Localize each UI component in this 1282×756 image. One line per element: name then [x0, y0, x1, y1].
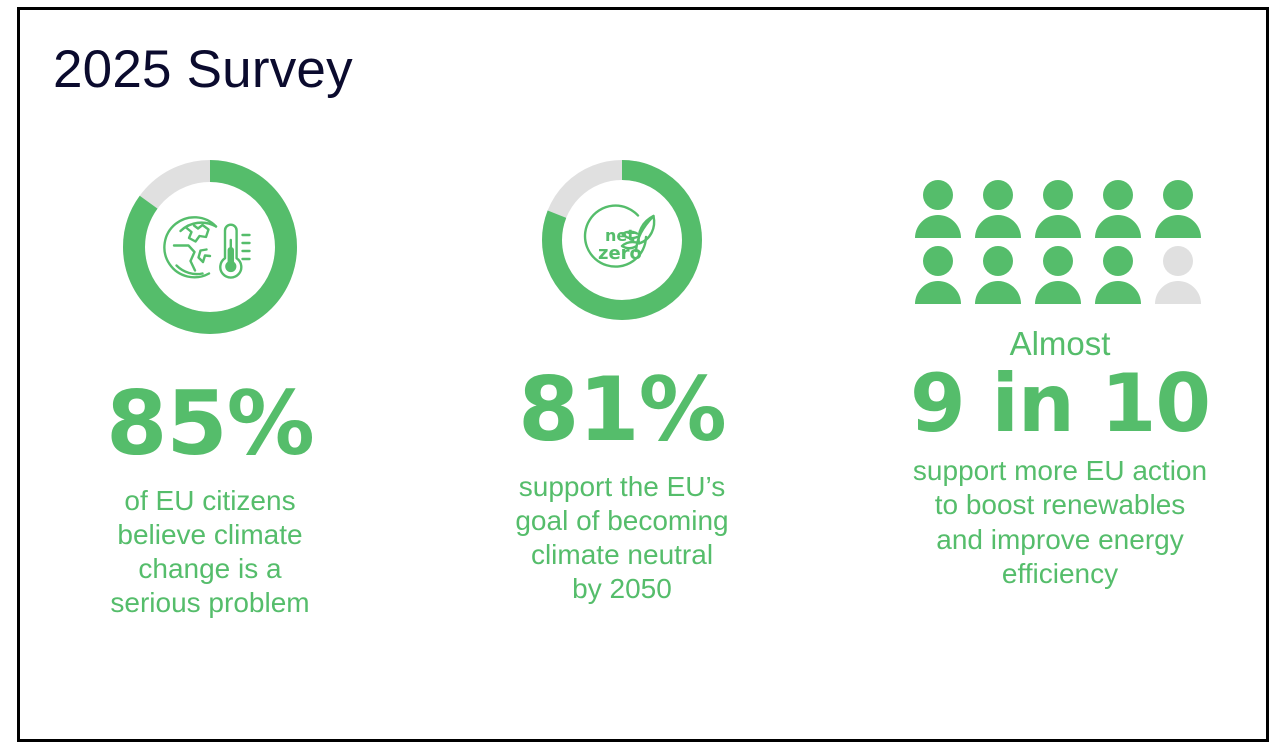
stat-column-climate-change-concern: 85% of EU citizens believe climate chang… — [45, 160, 375, 621]
people-pictogram — [910, 178, 1210, 308]
person-icon — [910, 244, 970, 308]
infographic-root: 2025 Survey — [0, 0, 1282, 756]
person-icon — [910, 178, 970, 242]
stat-value-climate-neutral-2050: 81% — [457, 366, 787, 454]
svg-text:zero: zero — [598, 243, 642, 264]
stat-value-climate-change-concern: 85% — [45, 380, 375, 468]
person-icon — [1090, 178, 1150, 242]
person-icon — [970, 244, 1030, 308]
infographic-card: 2025 Survey — [17, 7, 1269, 742]
person-icon — [1030, 244, 1090, 308]
donut-chart-climate-change-concern — [123, 160, 297, 334]
stat-value-more-eu-action: 9 in 10 — [850, 364, 1270, 444]
net-zero-leaf-icon: net zero — [576, 195, 668, 285]
stat-caption-climate-neutral-2050: support the EU’s goal of becoming climat… — [457, 470, 787, 607]
page-title: 2025 Survey — [53, 42, 353, 98]
person-icon — [970, 178, 1030, 242]
stat-caption-climate-change-concern: of EU citizens believe climate change is… — [45, 484, 375, 621]
person-icon-inactive — [1150, 244, 1210, 308]
stat-column-climate-neutral-2050: net zero 81% support the EU’s goal of be… — [457, 160, 787, 607]
person-icon — [1150, 178, 1210, 242]
donut-chart-climate-neutral-2050: net zero — [542, 160, 702, 320]
globe-thermometer-icon — [162, 203, 258, 291]
stat-caption-more-eu-action: support more EU action to boost renewabl… — [850, 454, 1270, 591]
person-icon — [1030, 178, 1090, 242]
stat-column-more-eu-action: Almost 9 in 10 support more EU action to… — [850, 160, 1270, 591]
person-icon — [1090, 244, 1150, 308]
